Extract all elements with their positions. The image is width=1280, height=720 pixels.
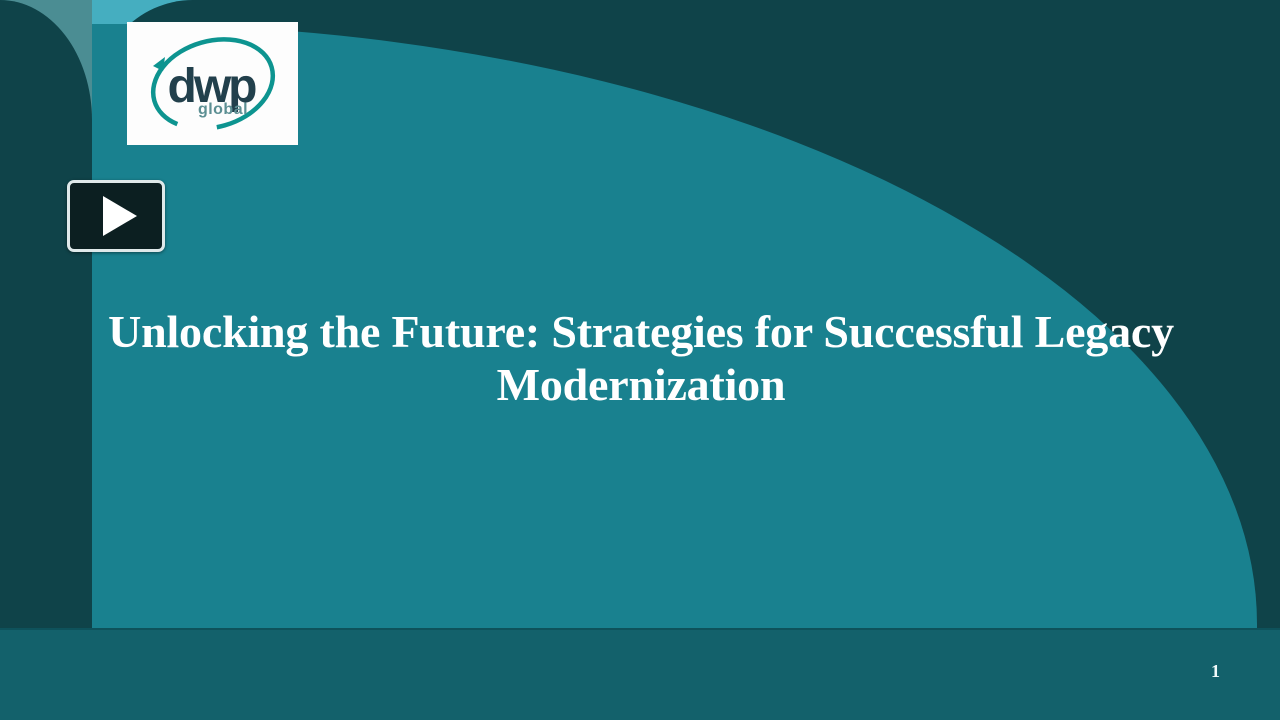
slide-title-block: Unlocking the Future: Strategies for Suc… — [96, 305, 1186, 412]
dwp-global-logo-icon: dwp global — [127, 22, 298, 145]
slide-title: Unlocking the Future: Strategies for Suc… — [96, 305, 1186, 412]
svg-text:global: global — [198, 101, 248, 118]
slide-footer: 1 — [0, 628, 1280, 720]
decor-column-left — [0, 0, 92, 628]
logo-card: dwp global — [127, 22, 298, 145]
play-icon — [103, 196, 137, 236]
slide-canvas: dwp global Unlocking the Future: Strateg… — [0, 0, 1280, 720]
footer-hairline — [0, 628, 1280, 630]
page-number: 1 — [1211, 662, 1220, 680]
play-media-button[interactable] — [67, 180, 165, 252]
